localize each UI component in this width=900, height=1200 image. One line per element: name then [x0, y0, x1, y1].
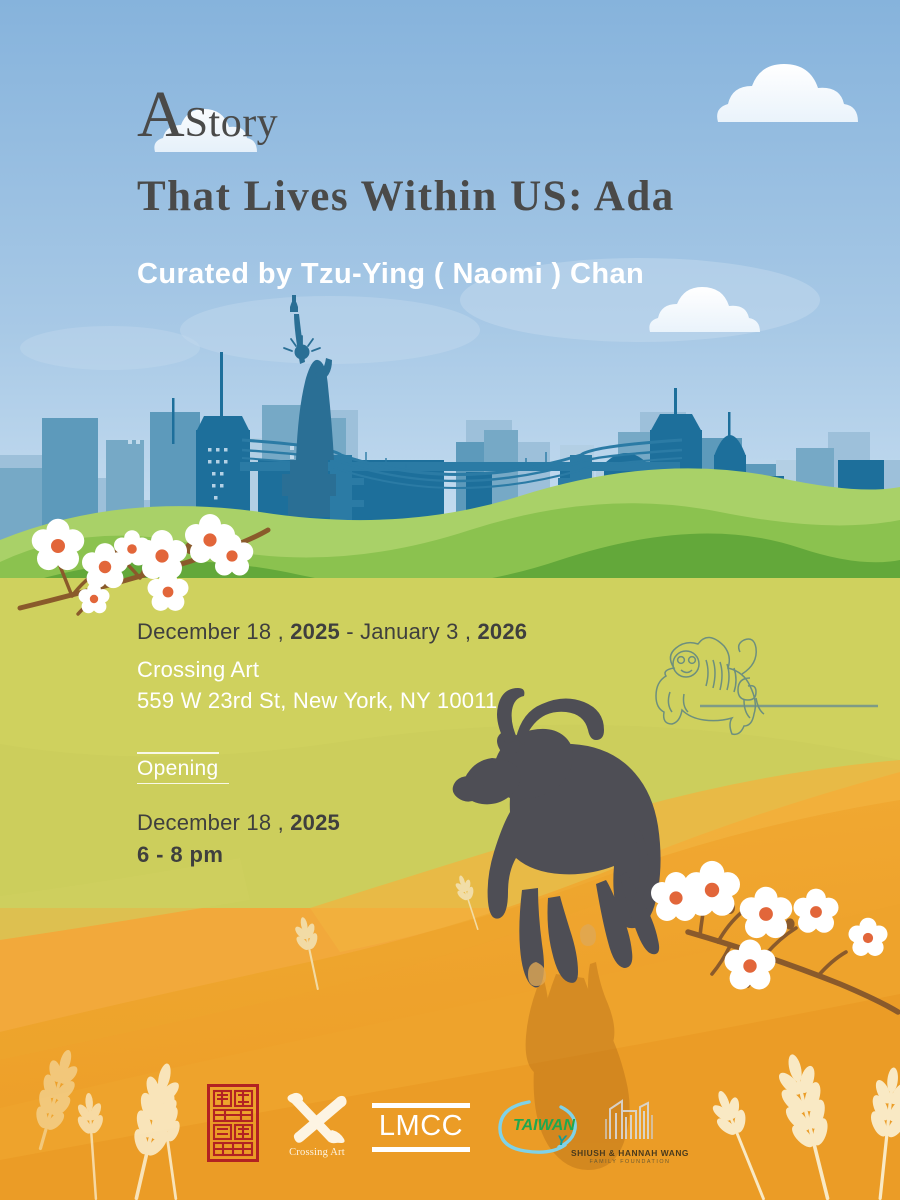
venue-name: Crossing Art — [137, 654, 527, 686]
sky-haze-2 — [180, 296, 480, 364]
poster-title-group: AStory That Lives Within US: Ada — [137, 82, 675, 221]
wang-building-mark — [560, 1093, 700, 1143]
venue-address: 559 W 23rd St, New York, NY 10011 — [137, 685, 527, 717]
sky-haze-3 — [20, 326, 200, 370]
wang-foundation-name: SHIUSH & HANNAH WANG — [560, 1148, 700, 1158]
title-line-2: That Lives Within US: Ada — [137, 172, 675, 221]
title-line-1: AStory — [137, 82, 675, 148]
crossing-art-wordmark: Crossing Art — [278, 1147, 356, 1158]
opening-date-text: December 18 , — [137, 810, 284, 835]
opening-date: December 18 , 2025 — [137, 806, 340, 840]
curator-credit: Curated by Tzu-Ying ( Naomi ) Chan — [137, 258, 644, 291]
crossing-art-logo: Crossing Art — [278, 1090, 356, 1162]
exhibition-date-range: December 18 , 2025 - January 3 , 2026 — [137, 618, 527, 646]
lmcc-wordmark: LMCC — [372, 1108, 470, 1147]
opening-time: 6 - 8 pm — [137, 840, 340, 871]
opening-date-year: 2025 — [290, 810, 340, 835]
title-word-story: Story — [185, 100, 279, 146]
opening-label: Opening — [137, 754, 340, 783]
exhibition-poster: AStory That Lives Within US: Ada Curated… — [0, 0, 900, 1200]
opening-rule-bottom — [137, 783, 229, 785]
exhibition-info: December 18 , 2025 - January 3 , 2026 Cr… — [137, 618, 527, 717]
wang-foundation-subtitle: FAMILY FOUNDATION — [560, 1159, 700, 1165]
title-letter-a: A — [137, 78, 185, 151]
date-separator: - — [346, 619, 354, 644]
date-end-year: 2026 — [477, 619, 527, 644]
date-start-year: 2025 — [290, 619, 340, 644]
chinese-seal-logo — [207, 1084, 259, 1162]
lmcc-bar-bottom — [372, 1147, 470, 1152]
date-start-text: December 18 , — [137, 619, 284, 644]
wang-family-foundation-logo: SHIUSH & HANNAH WANG FAMILY FOUNDATION — [560, 1093, 700, 1161]
opening-info: Opening December 18 , 2025 6 - 8 pm — [137, 752, 340, 871]
lmcc-logo: LMCC — [372, 1103, 470, 1151]
date-end-text: January 3 , — [360, 619, 471, 644]
